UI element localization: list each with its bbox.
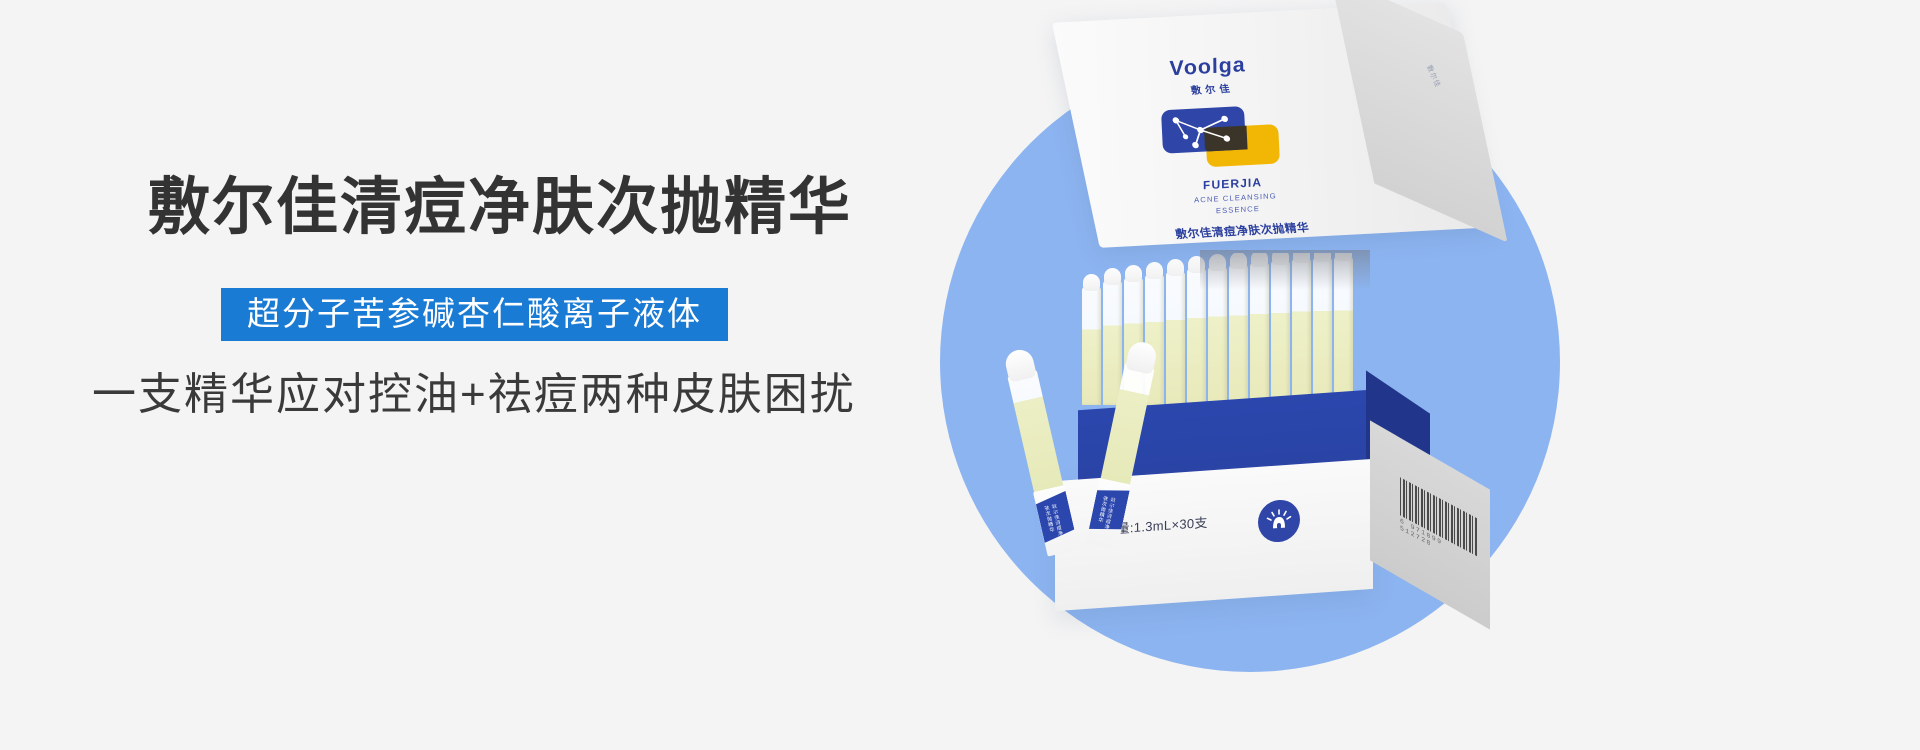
banner-copy-block: 敷尔佳清痘净肤次抛精华 超分子苦参碱杏仁酸离子液体 一支精华应对控油+祛痘两种皮… bbox=[0, 0, 980, 750]
product-scene: 净含量:1.3mL×30支 6 971899 512728 bbox=[900, 0, 1920, 750]
product-banner: 敷尔佳清痘净肤次抛精华 超分子苦参碱杏仁酸离子液体 一支精华应对控油+祛痘两种皮… bbox=[0, 0, 1920, 750]
subhead-text: 超分子苦参碱杏仁酸离子液体 bbox=[247, 297, 702, 330]
vial-cap-icon bbox=[1083, 274, 1100, 291]
molecule-icon bbox=[1162, 108, 1248, 153]
page-title: 敷尔佳清痘净肤次抛精华 bbox=[148, 177, 852, 239]
subhead-badge: 超分子苦参碱杏仁酸离子液体 bbox=[221, 288, 728, 341]
sachet-cap-icon bbox=[1003, 347, 1037, 383]
box-inner-shadow bbox=[1200, 250, 1370, 290]
box-lid-label: Voolga 敷尔佳 bbox=[1095, 51, 1354, 244]
lamp-icon bbox=[1258, 499, 1300, 544]
tagline-text: 一支精华应对控油+祛痘两种皮肤困扰 bbox=[92, 373, 856, 417]
brand-logo-icon bbox=[1157, 104, 1287, 171]
